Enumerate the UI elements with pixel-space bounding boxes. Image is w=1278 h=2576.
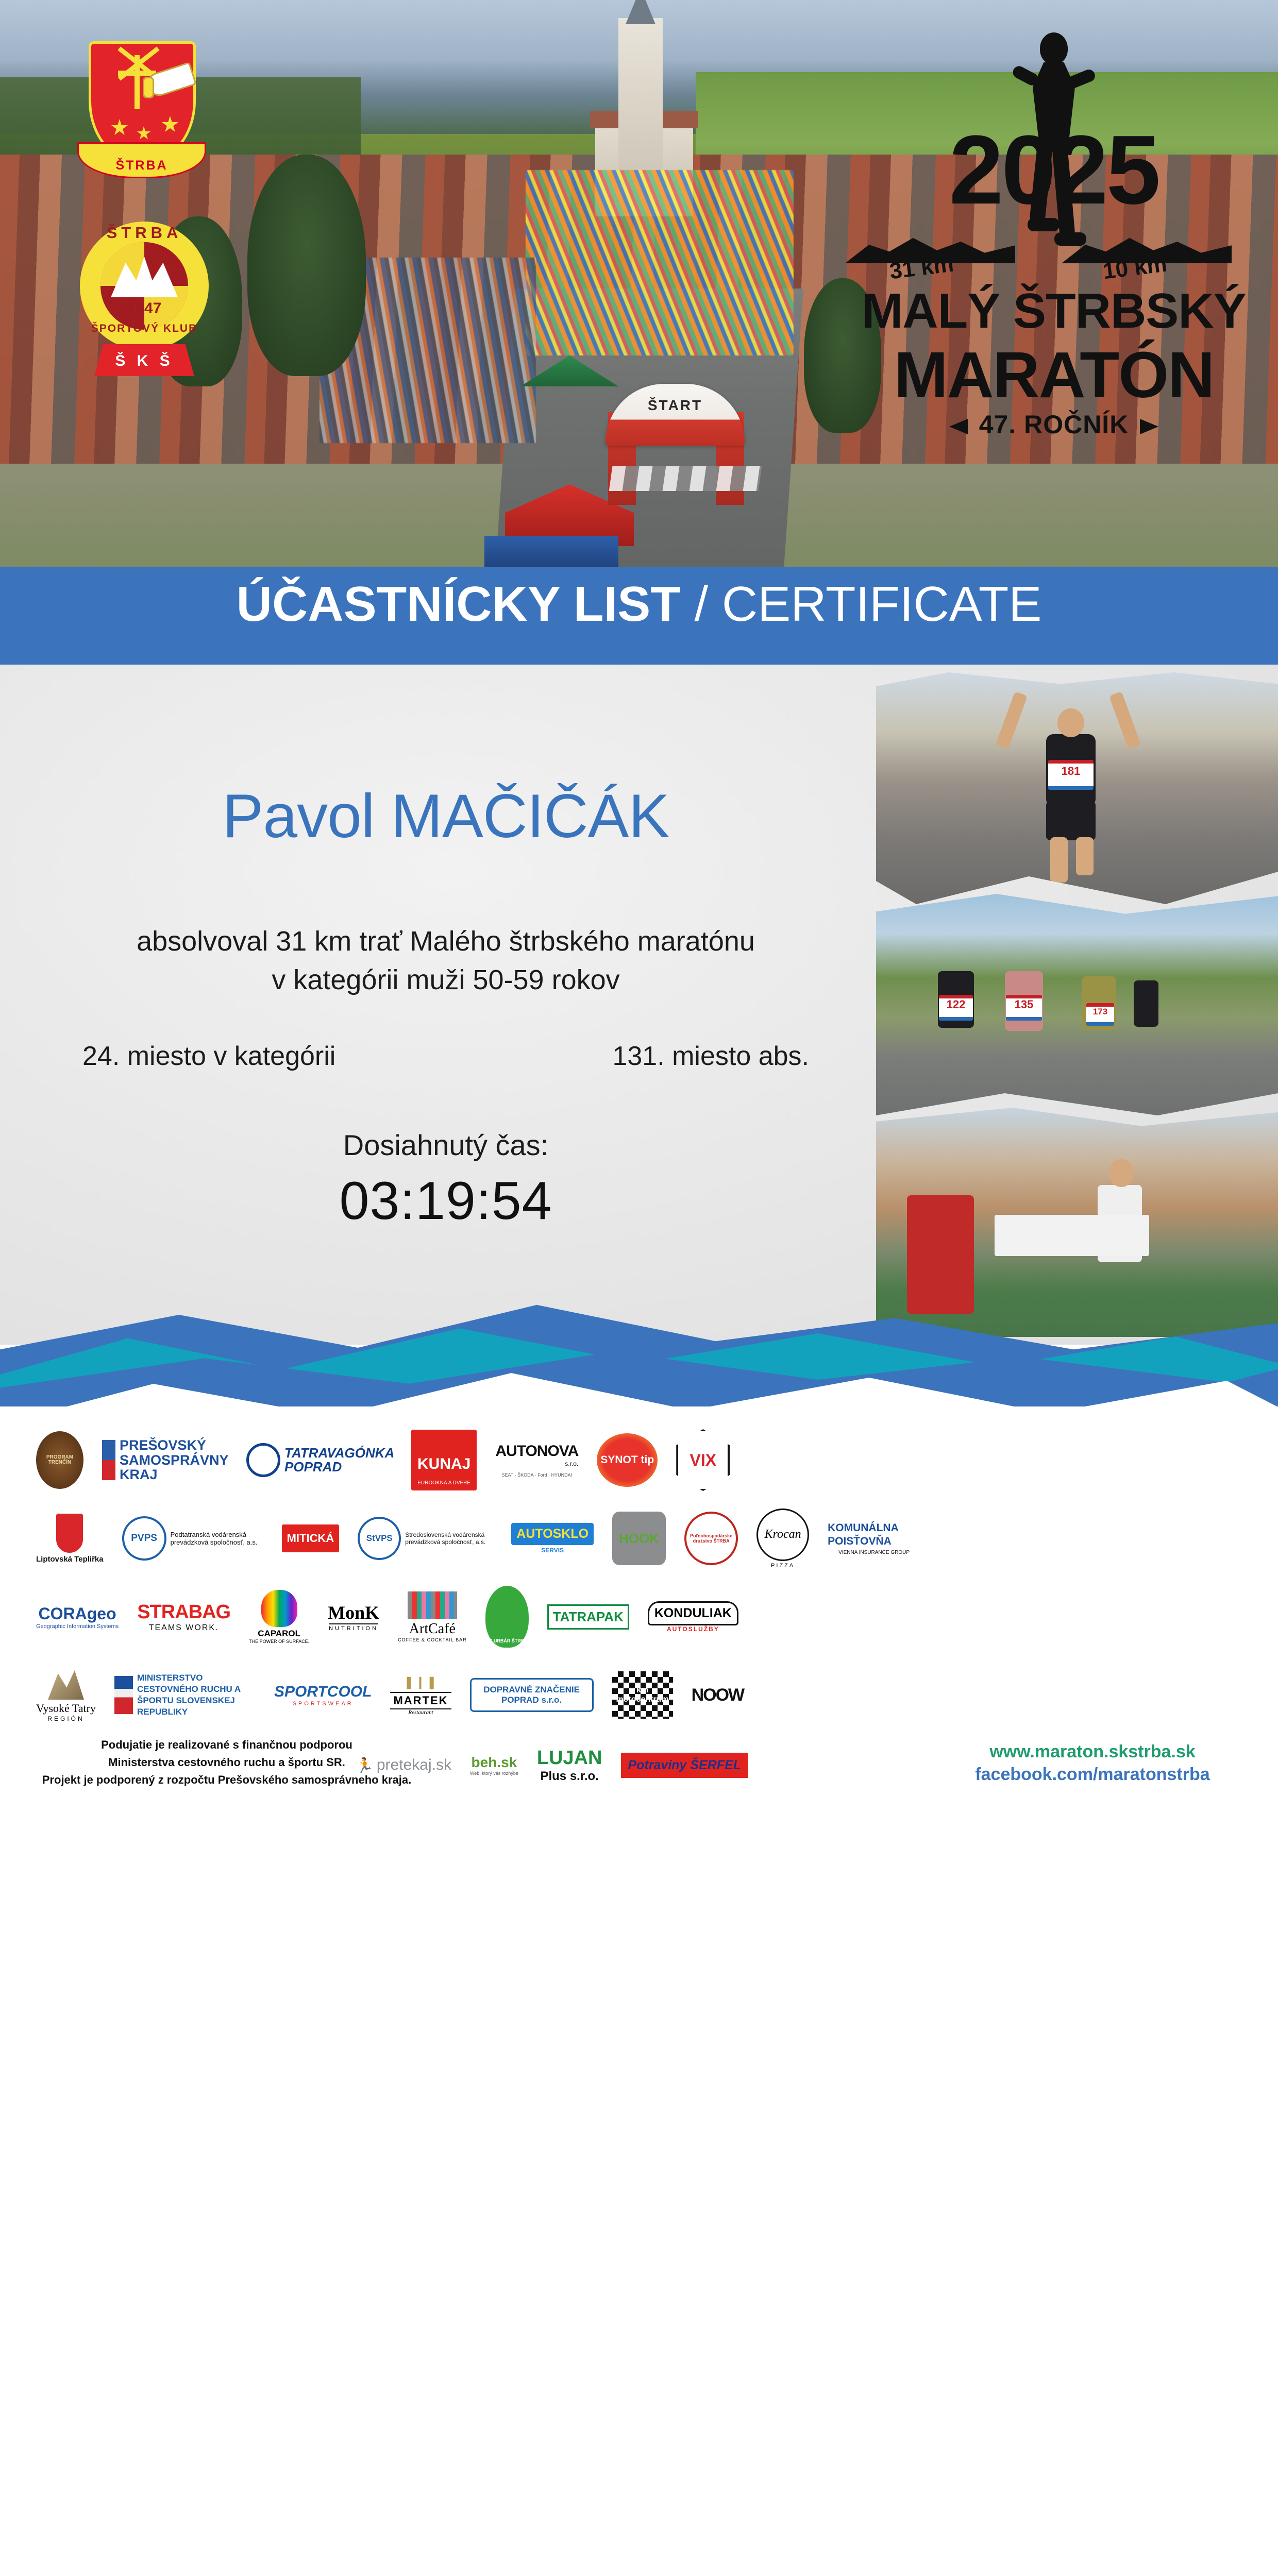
sponsor-logo: VIX	[676, 1429, 730, 1491]
sponsor-logo: PREŠOVSKÝ SAMOSPRÁVNY KRAJ	[102, 1429, 228, 1491]
runner-head	[1109, 1159, 1134, 1187]
certificate-description: absolvoval 31 km trať Malého štrbského m…	[0, 922, 892, 999]
contact-links: www.maraton.skstrba.sk facebook.com/mara…	[922, 1740, 1263, 1786]
banner-title: ÚČASTNÍCKY LIST / CERTIFICATE	[0, 580, 1278, 629]
sponsor-name: SYNOT tip	[597, 1433, 658, 1487]
sponsor-subtitle: THE POWER OF SURFACE.	[249, 1639, 309, 1644]
bib-number: 181	[1048, 760, 1094, 790]
sponsor-subtitle: COFFEE & COCKTAIL BAR	[398, 1637, 467, 1642]
placement-row: 24. miesto v kategórii 131. miesto abs.	[0, 1041, 892, 1072]
sponsor-row: Vysoké Tatry REGIÓN MINISTERSTVO CESTOVN…	[36, 1656, 912, 1734]
banner-title-separator: /	[681, 577, 722, 632]
sponsor-row: PROGRAM TRENČÍN PREŠOVSKÝ SAMOSPRÁVNY KR…	[36, 1421, 912, 1499]
folk-costume	[907, 1195, 974, 1314]
sponsor-name: DOPRAVNÉ ZNAČENIE POPRAD s.r.o.	[470, 1678, 594, 1712]
sponsor-logo: STRABAG TEAMS WORK.	[137, 1586, 230, 1648]
triangle-left-icon	[949, 419, 968, 434]
website-link[interactable]: www.maraton.skstrba.sk	[922, 1740, 1263, 1763]
photo-finisher: 181	[876, 672, 1278, 904]
sponsor-subtitle: Restaurant	[408, 1709, 433, 1716]
sponsor-logo: ArtCafé COFFEE & COCKTAIL BAR	[398, 1586, 467, 1648]
runner-arm	[1109, 691, 1141, 749]
description-line-1: absolvoval 31 km trať Malého štrbského m…	[0, 922, 892, 961]
runner-leg	[1076, 837, 1094, 875]
participant-name: Pavol MAČIČÁK	[0, 781, 892, 852]
sponsor-subtitle: Plus s.r.o.	[540, 1769, 598, 1784]
banner-title-thin: CERTIFICATE	[722, 577, 1041, 632]
sponsor-subtitle: SPORTSWEAR	[293, 1701, 354, 1707]
sponsor-name: MARTEK	[390, 1692, 451, 1709]
sponsor-name: MonK	[328, 1602, 379, 1623]
bib-number: 135	[1006, 995, 1042, 1021]
sponsor-logo: StVPS Stredoslovenská vodárenská prevádz…	[358, 1507, 493, 1569]
sponsor-subtitle: AUTOSLUŽBY	[667, 1625, 719, 1633]
sponsor-name: PREŠOVSKÝ SAMOSPRÁVNY KRAJ	[120, 1438, 228, 1482]
sponsor-name: MINISTERSTVO CESTOVNÉHO RUCHU A ŠPORTU S…	[137, 1672, 256, 1718]
triangle-right-icon	[1140, 419, 1158, 434]
sponsor-name: CORAgeo	[39, 1604, 116, 1623]
sponsor-name: NOOW	[692, 1685, 744, 1705]
race-year: 2025	[840, 126, 1268, 214]
bib-number: 122	[939, 995, 973, 1021]
sponsor-logo: ❚❙❚ MARTEK Restaurant	[390, 1664, 451, 1726]
sponsor-logo: LUJAN Plus s.r.o.	[537, 1734, 602, 1796]
crosswalk	[609, 466, 762, 491]
sponsor-name: HOOK	[612, 1512, 666, 1565]
sport-club-banner: Š K Š	[94, 344, 194, 376]
distance-row: 31 km 10 km	[840, 229, 1268, 291]
runner-arm	[996, 691, 1028, 749]
sponsor-logo: Vysoké Tatry REGIÓN	[36, 1664, 96, 1726]
sponsor-name: AUTOSKLO	[511, 1523, 594, 1545]
sponsor-logo: CORAgeo Geographic Information Systems	[36, 1586, 119, 1648]
sponsor-name: SPORTCOOL	[274, 1683, 372, 1701]
photo-hill-runners: 122 135 173	[876, 894, 1278, 1115]
sponsor-subtitle: VIENNA INSURANCE GROUP	[838, 1550, 910, 1555]
facebook-link[interactable]: facebook.com/maratonstrba	[922, 1763, 1263, 1786]
tatra-peaks-icon	[48, 1668, 84, 1700]
sponsor-logo: KONDULIAK AUTOSLUŽBY	[648, 1586, 738, 1648]
banner-board	[995, 1215, 1149, 1256]
sponsor-name: KONDULIAK	[648, 1601, 738, 1625]
sponsor-logo: SPORTCOOL SPORTSWEAR	[274, 1664, 372, 1726]
sponsor-logo: CAPAROL THE POWER OF SURFACE.	[249, 1586, 309, 1648]
sport-club-top-label: ŠTRBA	[80, 224, 209, 242]
finish-time-label: Dosiahnutý čas:	[0, 1128, 892, 1162]
race-edition-label: 47. ROČNÍK	[979, 410, 1129, 439]
sponsor-logo: KUNAJ EUROOKNÁ A DVERE	[411, 1429, 477, 1491]
sponsor-name: MITICKÁ	[282, 1524, 340, 1552]
sport-club-banner-label: Š K Š	[94, 352, 194, 370]
start-arch-label: ŠTART	[606, 397, 745, 414]
sponsor-logo: MonK NUTRITION	[328, 1586, 379, 1648]
support-line-3: Projekt je podporený z rozpočtu Prešovsk…	[41, 1771, 412, 1789]
star-icon	[111, 119, 128, 137]
sponsor-subtitle: REGIÓN	[47, 1715, 84, 1722]
sponsor-name: TATRAPAK	[547, 1604, 629, 1630]
tatravagonka-mark-icon	[246, 1443, 280, 1477]
sponsor-name: LUJAN	[537, 1747, 602, 1769]
runner-leg	[1050, 837, 1068, 883]
photo-finish-line	[876, 1108, 1278, 1337]
sponsor-subtitle: TEAMS WORK.	[149, 1623, 219, 1633]
sponsor-name: Potraviny ŠERFEL	[621, 1753, 749, 1778]
car-brands-row: SEAT · ŠKODA · Ford · HYUNDAI	[501, 1472, 572, 1478]
slovak-flag-icon	[114, 1676, 133, 1714]
runner-shorts	[1046, 801, 1096, 840]
sponsor-row: Liptovská Tepliřka PVPS Podtatranská vod…	[36, 1499, 912, 1578]
sponsor-logo: DOPRAVNÉ ZNAČENIE POPRAD s.r.o.	[470, 1664, 594, 1726]
sponsor-logo: PVPS Podtatranská vodárenská prevádzková…	[122, 1507, 263, 1569]
star-icon	[161, 116, 179, 133]
sponsor-name: PVPS	[122, 1516, 166, 1561]
sponsor-name: Krocan	[756, 1509, 809, 1561]
sponsor-logo: HOOK	[612, 1507, 666, 1569]
sponsor-name: Liptovská Tepliřka	[36, 1555, 104, 1564]
sponsor-name: STRABAG	[137, 1601, 230, 1623]
artcafe-stripes-icon	[408, 1591, 457, 1619]
sponsor-logo: km motocentrum	[612, 1664, 673, 1726]
sponsor-row: CORAgeo Geographic Information Systems S…	[36, 1578, 912, 1656]
sponsor-logo: Poľnohospodárske družstvo ŠTRBA	[684, 1507, 738, 1569]
sponsor-logo: TATRAPAK	[547, 1586, 629, 1648]
sport-club-emblem: ŠTRBA 1947 ŠPORTOVÝ KLUB Š K Š	[80, 206, 209, 376]
sponsor-subtitle: Web, ktorý vás rozhýbe	[470, 1771, 518, 1776]
support-line-1: Podujatie je realizované s finančnou pod…	[41, 1736, 412, 1754]
sponsor-subtitle: s.r.o.	[565, 1460, 578, 1467]
sponsor-subtitle: Stredoslovenská vodárenská prevádzková s…	[405, 1531, 493, 1546]
finish-time-value: 03:19:54	[0, 1171, 892, 1232]
church-tower	[618, 18, 663, 173]
sponsor-name: KUNAJ	[417, 1455, 470, 1472]
sponsor-name: VIX	[676, 1429, 730, 1491]
place-in-category: 24. miesto v kategórii	[82, 1041, 335, 1072]
sponsor-subtitle: Geographic Information Systems	[36, 1623, 119, 1630]
sponsor-name: TATRAVAGÓNKA POPRAD	[284, 1446, 393, 1475]
sponsor-logo: SYNOT tip	[597, 1429, 658, 1491]
tree	[247, 155, 366, 376]
sponsor-name: PS URBÁR ŠTRBA	[485, 1586, 529, 1648]
bib-number: 173	[1086, 1003, 1114, 1026]
sponsor-subtitle: PIZZA	[771, 1563, 795, 1569]
sponsor-subtitle: SERVIS	[541, 1547, 564, 1554]
sponsor-logo: Liptovská Tepliřka	[36, 1507, 104, 1569]
description-line-2: v kategórii muži 50-59 rokov	[0, 961, 892, 999]
blue-tent	[484, 536, 618, 569]
liptovska-teplicka-crest-icon	[56, 1514, 83, 1553]
sponsor-logo: Potraviny ŠERFEL	[621, 1734, 749, 1796]
sponsor-logo: TATRAVAGÓNKA POPRAD	[246, 1429, 393, 1491]
sponsor-name: CAPAROL	[258, 1629, 300, 1639]
sponsor-name: StVPS	[358, 1517, 401, 1560]
strba-coat-of-arms: ŠTRBA	[77, 41, 206, 196]
sponsor-logo: AUTOSKLO SERVIS	[511, 1507, 594, 1569]
cuff-icon	[143, 77, 154, 98]
sponsor-name: km motocentrum	[612, 1671, 673, 1719]
sponsor-name: beh.sk	[472, 1754, 517, 1771]
sponsor-name: ArtCafé	[409, 1621, 456, 1637]
sponsor-name: PROGRAM TRENČÍN	[36, 1431, 83, 1489]
sponsor-logo: beh.sk Web, ktorý vás rozhýbe	[470, 1734, 518, 1796]
sponsor-logo: MITICKÁ	[282, 1507, 340, 1569]
race-title-line2: MARATÓN	[840, 343, 1268, 408]
sponsor-name: AUTONOVA	[495, 1443, 578, 1460]
sport-club-bottom-label: ŠPORTOVÝ KLUB	[80, 323, 209, 335]
caparol-elephant-icon	[261, 1590, 297, 1627]
sponsor-logo: MINISTERSTVO CESTOVNÉHO RUCHU A ŠPORTU S…	[114, 1664, 256, 1726]
runner-crowd	[526, 170, 794, 355]
coat-of-arms-ribbon: ŠTRBA	[77, 142, 206, 178]
psk-flag-icon	[102, 1440, 115, 1480]
runner-torso	[1134, 980, 1158, 1027]
sponsor-logo: KOMUNÁLNA POISŤOVŇA VIENNA INSURANCE GRO…	[828, 1507, 920, 1569]
runner-head	[1057, 708, 1084, 737]
sport-club-year: 1947	[80, 300, 209, 317]
banner-title-bold: ÚČASTNÍCKY LIST	[237, 577, 681, 632]
coat-of-arms-ribbon-label: ŠTRBA	[79, 158, 205, 173]
sponsor-logo: PROGRAM TRENČÍN	[36, 1429, 83, 1491]
sponsor-subtitle: Podtatranská vodárenská prevádzková spol…	[171, 1531, 263, 1546]
sponsor-logo: PS URBÁR ŠTRBA	[485, 1586, 529, 1648]
support-line-2: Ministerstva cestovného ruchu a športu S…	[41, 1754, 412, 1771]
sponsor-name: Poľnohospodárske družstvo ŠTRBA	[684, 1512, 738, 1565]
support-note: Podujatie je realizované s finančnou pod…	[41, 1736, 412, 1789]
sponsor-logo: Krocan PIZZA	[756, 1507, 809, 1569]
race-title-line1: MALÝ ŠTRBSKÝ	[840, 286, 1268, 336]
cutlery-icon: ❚❙❚	[403, 1675, 438, 1690]
sponsor-logo: AUTONOVA s.r.o. SEAT · ŠKODA · Ford · HY…	[495, 1429, 578, 1491]
race-edition-row: 47. ROČNÍK	[840, 410, 1268, 439]
sponsor-name: Vysoké Tatry	[36, 1702, 96, 1715]
photo-collage: 181 122 135 173	[876, 672, 1278, 1337]
race-logo: 2025 31 km 10 km MALÝ ŠTRBSKÝ MARATÓN 47…	[840, 28, 1268, 482]
sponsor-subtitle: EUROOKNÁ A DVERE	[417, 1480, 470, 1486]
sponsor-logo: NOOW	[692, 1664, 744, 1726]
star-icon	[137, 126, 151, 141]
sponsor-name: KOMUNÁLNA POISŤOVŇA	[828, 1521, 920, 1547]
sponsor-subtitle: NUTRITION	[329, 1623, 378, 1632]
place-absolute: 131. miesto abs.	[612, 1041, 809, 1072]
